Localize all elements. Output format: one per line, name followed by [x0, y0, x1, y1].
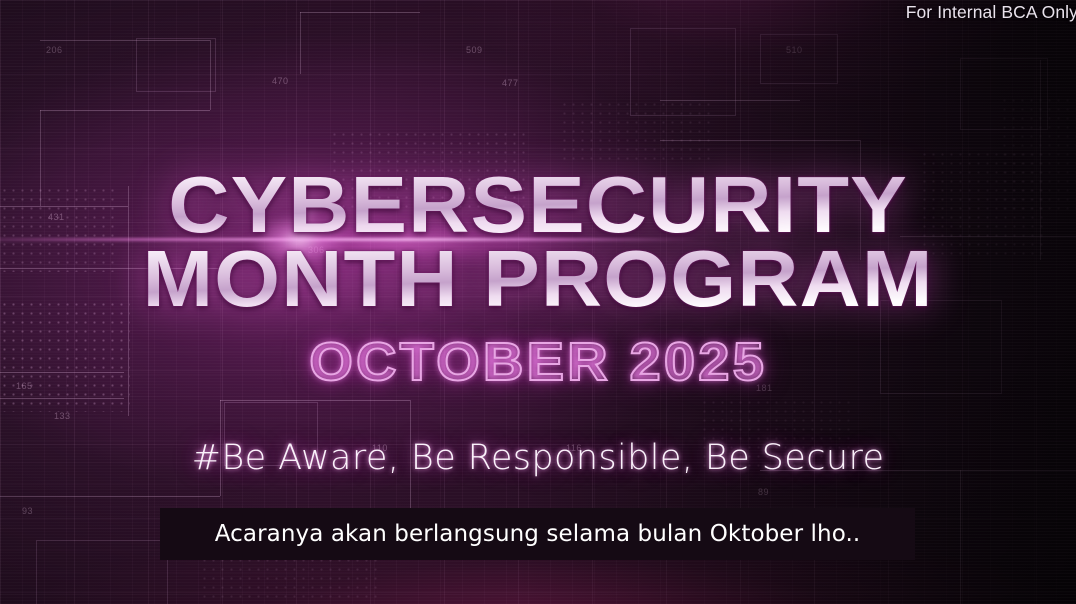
page-title: CYBERSECURITY MONTH PROGRAM [0, 170, 1076, 315]
subtitle-text: Acaranya akan berlangsung selama bulan O… [215, 521, 861, 547]
tagline-text: #Be Aware, Be Responsible, Be Secure [192, 438, 885, 478]
title-line-2: MONTH PROGRAM [0, 244, 1076, 314]
poster-canvas: 206 509 510 470 477 328 431 306 165 133 … [0, 0, 1076, 604]
event-date-heading: OCTOBER 2025 [0, 331, 1076, 393]
campaign-tagline: #Be Aware, Be Responsible, Be Secure [0, 438, 1076, 478]
internal-use-watermark: For Internal BCA Only [906, 2, 1076, 23]
event-date-text: OCTOBER 2025 [309, 331, 767, 393]
video-subtitle-bar: Acaranya akan berlangsung selama bulan O… [160, 508, 915, 560]
title-line-1: CYBERSECURITY [0, 170, 1076, 240]
